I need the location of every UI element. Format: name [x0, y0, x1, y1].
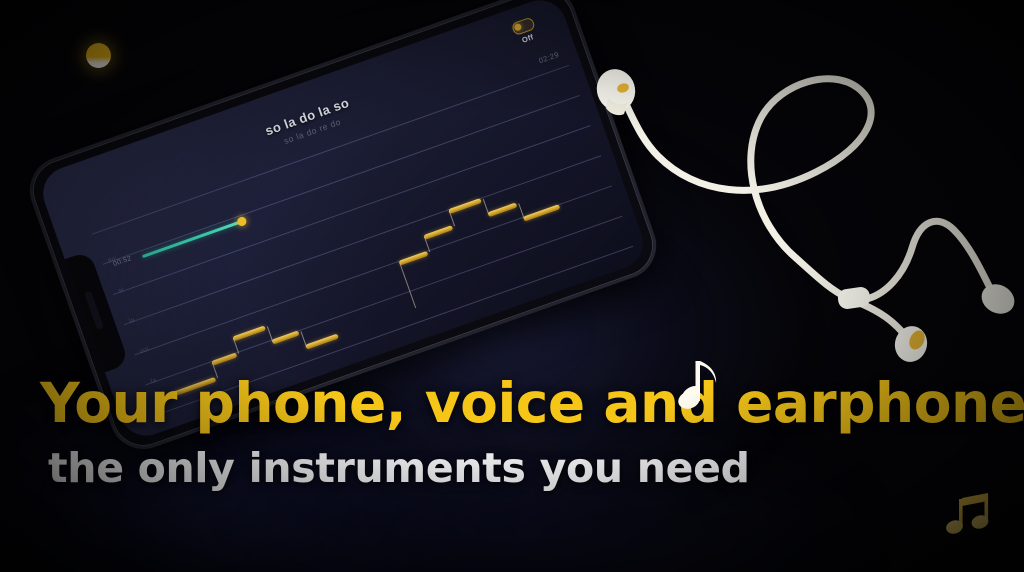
audio-jack-icon: [976, 279, 1019, 320]
earpiece-speaker: [84, 290, 104, 330]
promo-banner: so la do la so so la do re do Off 02:29 …: [0, 0, 1024, 572]
cable-right-branch: [862, 221, 992, 300]
cable-lower-branch: [862, 304, 904, 334]
cable-to-splitter: [796, 258, 848, 298]
toggle-knob: [513, 22, 522, 31]
cable-upper-loop: [626, 79, 871, 258]
glow-dot-icon: [86, 43, 111, 68]
beamed-notes-icon: [946, 492, 994, 538]
headline-primary: Your phone, voice and earphones: [40, 376, 992, 431]
earbud-icon: [591, 64, 640, 116]
headline-secondary: the only instruments you need: [48, 448, 1000, 489]
earphones-graphic: [586, 52, 1024, 362]
eighth-note-icon: [660, 355, 722, 413]
